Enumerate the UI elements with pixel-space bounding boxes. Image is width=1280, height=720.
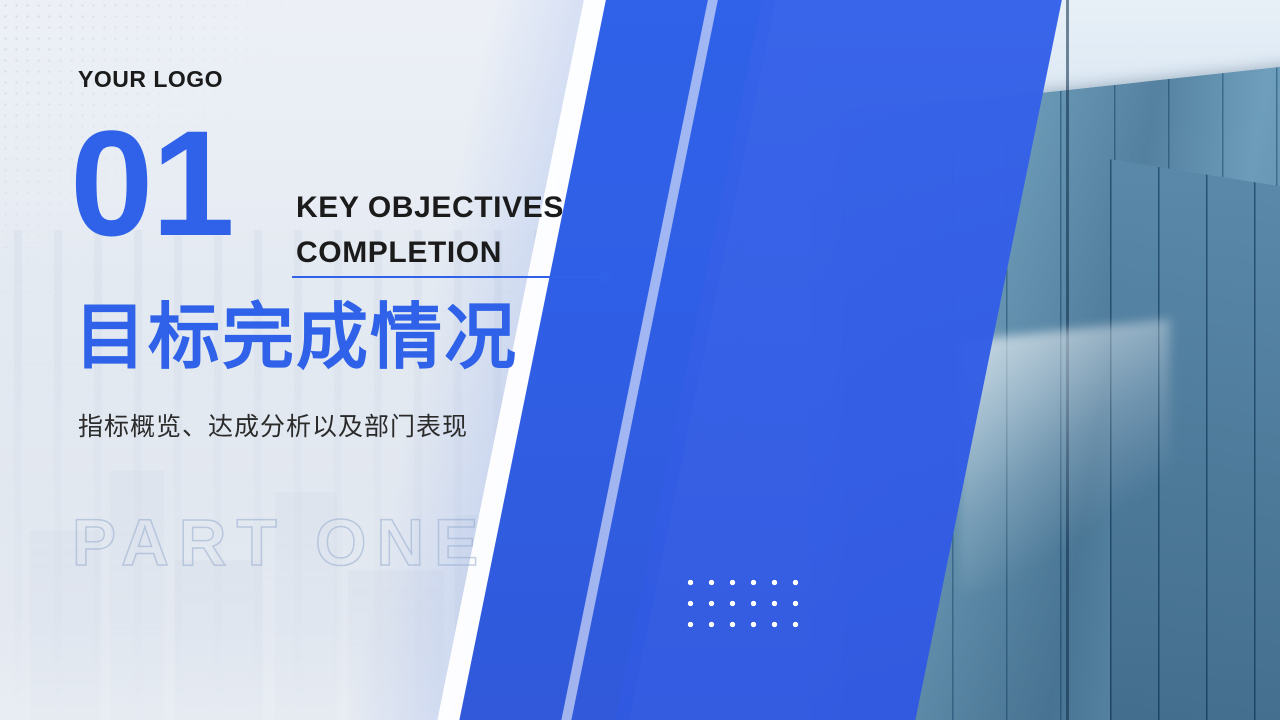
chinese-subtitle: 指标概览、达成分析以及部门表现 [78, 410, 468, 444]
part-watermark: PART ONE [72, 506, 488, 578]
english-title-line-2: COMPLETION [296, 230, 564, 275]
presentation-slide: YOUR LOGO 01 KEY OBJECTIVES COMPLETION 目… [0, 0, 1280, 720]
arrow-head-icon [600, 270, 614, 284]
chinese-title: 目标完成情况 [74, 298, 518, 378]
dot-grid-decoration [680, 572, 800, 634]
cloud-reflection [960, 319, 1170, 591]
section-number: 01 [70, 108, 233, 258]
logo-placeholder: YOUR LOGO [78, 66, 223, 93]
english-title: KEY OBJECTIVES COMPLETION [296, 185, 564, 275]
arrow-rule [292, 276, 612, 278]
city-building [175, 559, 263, 720]
english-title-line-1: KEY OBJECTIVES [296, 185, 564, 230]
